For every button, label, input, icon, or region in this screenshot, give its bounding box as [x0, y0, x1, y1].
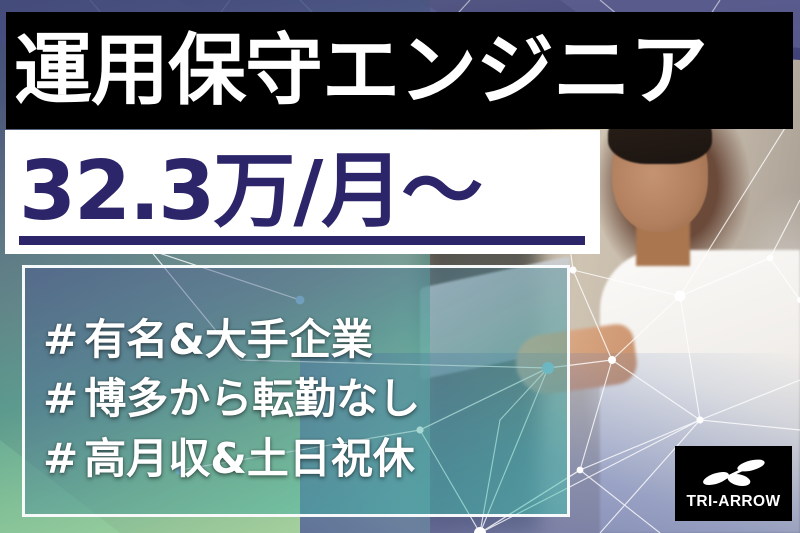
hashtag-label-2: 博多から転勤なし [84, 374, 420, 423]
salary-amount: 32.3万/月〜 [19, 144, 481, 239]
tri-arrow-blades-icon [699, 456, 769, 490]
hash-icon: # [43, 434, 78, 483]
company-logo: TRI-ARROW [675, 446, 792, 521]
hash-icon: # [43, 315, 78, 364]
salary-inner: 32.3万/月〜 [19, 151, 481, 233]
benefits-panel: #有名&大手企業 #博多から転勤なし #高月収&土日祝休 [22, 265, 570, 517]
logo-wordmark: TRI-ARROW [687, 493, 781, 511]
salary-box: 32.3万/月〜 [5, 130, 600, 254]
hashtag-item-3: #高月収&土日祝休 [43, 430, 567, 487]
hashtag-item-1: #有名&大手企業 [43, 311, 567, 368]
job-title-bar: 運用保守エンジニア [6, 12, 793, 129]
hashtag-label-3: 高月収&土日祝休 [84, 434, 415, 483]
page-title: 運用保守エンジニア [14, 32, 707, 110]
job-ad-banner: 運用保守エンジニア 32.3万/月〜 #有名&大手企業 #博多から転勤なし #高… [0, 0, 800, 533]
hashtag-item-2: #博多から転勤なし [43, 370, 567, 427]
salary-underline [19, 236, 585, 245]
hash-icon: # [43, 374, 78, 423]
hashtag-label-1: 有名&大手企業 [84, 315, 373, 364]
